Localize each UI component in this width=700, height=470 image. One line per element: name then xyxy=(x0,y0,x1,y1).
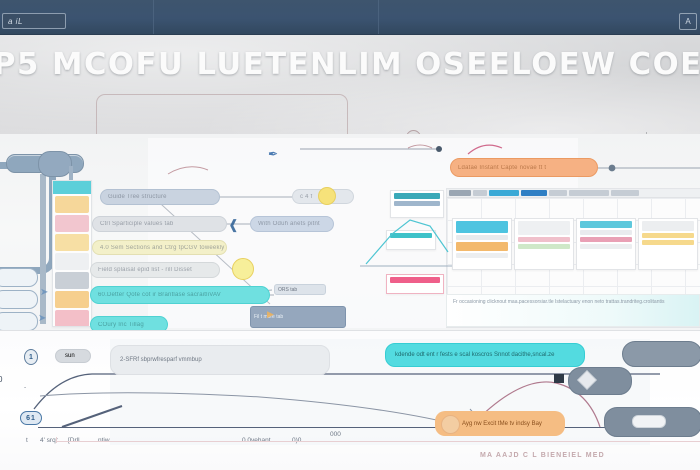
axis-tick-6: 000 xyxy=(330,431,341,438)
titlebar-divider-2 xyxy=(378,0,379,34)
page-title: P5 MCOFU LUETENLIM OSEELOEW COELLTTITDCE… xyxy=(0,47,700,82)
app-window: a iL A P5 MCOFU LUETENLIM OSEELOEW COELL… xyxy=(0,0,700,470)
footer-divider-cap xyxy=(56,437,57,443)
footer-caption: MA AAJD C L BIENEIEL MED xyxy=(480,452,605,459)
bottom-panel: t 4' srqr [Drll ntiw 0.0vehant 0)0 000 1… xyxy=(0,330,700,470)
bottom-pill-gray2[interactable]: sun xyxy=(55,349,91,363)
bottom-pill-gray-label: 2-SFRf sbprwfresparf vmmbup xyxy=(120,357,202,363)
main-canvas: Guide Tree structure Ctrl Sparticiple va… xyxy=(0,134,700,330)
titlebar-divider xyxy=(153,0,154,34)
slug-inner-chip xyxy=(632,415,666,428)
chart-badge-3-label: 0 xyxy=(0,375,2,384)
hero-outline-shape xyxy=(96,94,348,134)
chart-badge-1[interactable]: 1 xyxy=(24,349,38,365)
titlebar-right-control[interactable]: A xyxy=(679,13,697,30)
connector-block-icon xyxy=(554,374,564,383)
avatar xyxy=(441,415,460,434)
axis-tick-0: t xyxy=(26,437,28,444)
chart-badge-2[interactable]: 61 xyxy=(20,411,42,425)
bottom-pill-gray2-label: sun xyxy=(65,353,75,359)
footer-divider xyxy=(56,441,700,442)
bottom-pill-orange-label: Ayg nw Excit tMe tv indsy Bay xyxy=(462,421,542,427)
hero-banner: P5 MCOFU LUETENLIM OSEELOEW COELLTTITDCE… xyxy=(0,34,700,134)
series-ramp xyxy=(62,406,122,427)
chart-badge-2-label: 61 xyxy=(26,415,36,422)
canvas-caption: Fr occasioning clicknout maa.pacessorsia… xyxy=(446,294,700,327)
titlebar-left-label: a iL xyxy=(8,17,23,26)
bottom-pill-gray[interactable]: 2-SFRf sbprwfresparf vmmbup xyxy=(110,345,330,375)
bottom-pill-teal[interactable]: kdende odt ent r fests e scal koscros Sn… xyxy=(385,343,585,367)
chart-plot xyxy=(0,331,700,470)
series-decay-curve-upper xyxy=(34,374,660,409)
titlebar-left-control[interactable]: a iL xyxy=(2,13,66,29)
bottom-pill-teal-label: kdende odt ent r fests e scal koscros Sn… xyxy=(395,352,554,358)
chart-x-axis xyxy=(38,427,658,428)
series-decay-curve-main xyxy=(40,393,466,427)
window-titlebar: a iL A xyxy=(0,0,700,35)
titlebar-right-label: A xyxy=(685,17,690,26)
slug-shape-3[interactable] xyxy=(622,341,700,367)
y-axis-note: - xyxy=(24,384,26,391)
chart-badge-1-label: 1 xyxy=(29,354,33,361)
